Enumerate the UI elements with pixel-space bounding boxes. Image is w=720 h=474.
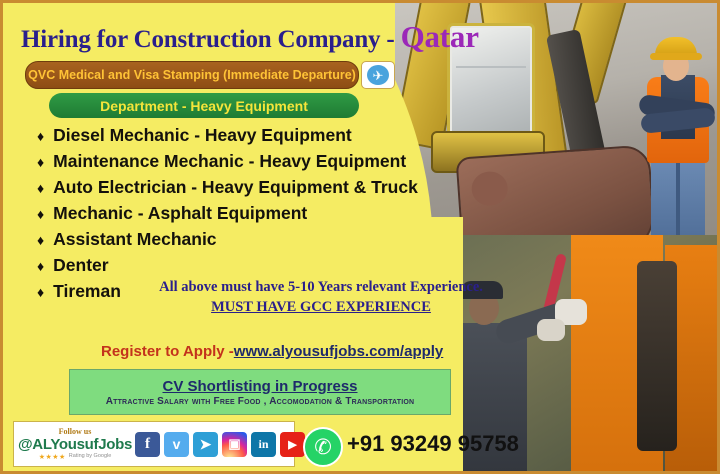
job-list-item: ♦ Diesel Mechanic - Heavy Equipment <box>37 125 418 151</box>
follow-us-bar: Follow us @ALYousufJobs ★★★★ Rating by G… <box>13 421 295 467</box>
job-title: Denter <box>53 255 108 276</box>
rating-source-label: Rating by Google <box>69 454 112 460</box>
brand-block: Follow us @ALYousufJobs ★★★★ Rating by G… <box>19 428 131 461</box>
qvc-banner: QVC Medical and Visa Stamping (Immediate… <box>25 61 359 89</box>
cv-shortlisting-headline: CV Shortlisting in Progress <box>162 378 357 395</box>
department-banner: Department - Heavy Equipment <box>49 93 359 118</box>
job-title: Maintenance Mechanic - Heavy Equipment <box>53 151 406 172</box>
linkedin-icon[interactable]: in <box>251 432 276 457</box>
job-title: Auto Electrician - Heavy Equipment & Tru… <box>53 177 418 198</box>
job-list-item: ♦ Mechanic - Asphalt Equipment <box>37 203 418 229</box>
page-title-main: Hiring for Construction Company - <box>21 26 401 53</box>
experience-requirements: All above must have 5-10 Years relevant … <box>131 279 511 316</box>
airplane-icon: ✈ <box>367 65 389 85</box>
job-list-item: ♦ Denter <box>37 255 418 281</box>
job-advertisement-poster: Hiring for Construction Company - Qatar … <box>0 0 720 474</box>
cv-shortlisting-box: CV Shortlisting in Progress Attractive S… <box>69 369 451 415</box>
page-title: Hiring for Construction Company - Qatar <box>21 19 479 55</box>
youtube-icon[interactable]: ▶ <box>280 432 305 457</box>
diamond-bullet-icon: ♦ <box>37 129 44 143</box>
diamond-bullet-icon: ♦ <box>37 181 44 195</box>
airplane-badge: ✈ <box>361 61 395 89</box>
qvc-banner-label: QVC Medical and Visa Stamping (Immediate… <box>28 68 356 82</box>
rating-row: ★★★★ Rating by Google <box>39 454 112 461</box>
diamond-bullet-icon: ♦ <box>37 285 44 299</box>
twitter-icon[interactable]: ᴠ <box>164 432 189 457</box>
telegram-icon[interactable]: ➤ <box>193 432 218 457</box>
department-banner-label: Department - Heavy Equipment <box>100 98 308 114</box>
contact-phone-number[interactable]: +91 93249 95758 <box>347 431 519 457</box>
page-title-country: Qatar <box>401 19 479 54</box>
job-list-item: ♦ Assistant Mechanic <box>37 229 418 255</box>
diamond-bullet-icon: ♦ <box>37 259 44 273</box>
register-label: Register to Apply - <box>101 343 234 360</box>
diamond-bullet-icon: ♦ <box>37 207 44 221</box>
whatsapp-icon[interactable]: ✆ <box>303 427 343 467</box>
experience-years-note: All above must have 5-10 Years relevant … <box>131 279 511 296</box>
benefits-line: Attractive Salary with Free Food , Accom… <box>106 396 415 407</box>
job-title: Diesel Mechanic - Heavy Equipment <box>53 125 352 146</box>
facebook-icon[interactable]: f <box>135 432 160 457</box>
register-line: Register to Apply -www.alyousufjobs.com/… <box>101 343 443 360</box>
job-list-item: ♦ Auto Electrician - Heavy Equipment & T… <box>37 177 418 203</box>
star-rating-icon: ★★★★ <box>39 454 66 461</box>
register-url-link[interactable]: www.alyousufjobs.com/apply <box>234 343 443 360</box>
gcc-experience-note: MUST HAVE GCC EXPERIENCE <box>131 299 511 316</box>
job-list-item: ♦ Maintenance Mechanic - Heavy Equipment <box>37 151 418 177</box>
follow-us-label: Follow us <box>59 428 92 436</box>
social-handle: @ALYousufJobs <box>18 437 132 452</box>
job-title: Assistant Mechanic <box>53 229 216 250</box>
diamond-bullet-icon: ♦ <box>37 155 44 169</box>
instagram-icon[interactable]: ▣ <box>222 432 247 457</box>
diamond-bullet-icon: ♦ <box>37 233 44 247</box>
job-title: Mechanic - Asphalt Equipment <box>53 203 307 224</box>
job-title: Tireman <box>53 281 121 302</box>
